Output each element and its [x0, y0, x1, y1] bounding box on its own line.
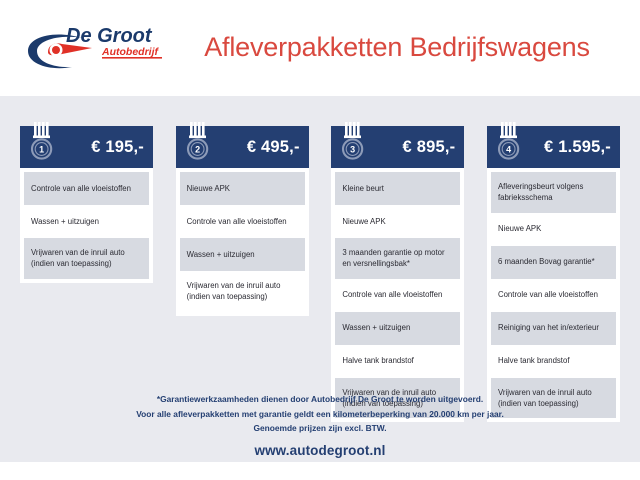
package-feature-list: Kleine beurtNieuwe APK3 maanden garantie…	[331, 168, 464, 422]
disclaimer-line-2: Voor alle afleverpakketten met garantie …	[0, 407, 640, 422]
package-card-header: 4€ 1.595,-	[487, 126, 620, 168]
package-feature-label: Wassen + uitzuigen	[31, 216, 99, 227]
svg-text:4: 4	[506, 145, 511, 155]
package-feature-label: Vrijwaren van de inruil auto (indien van…	[31, 247, 142, 270]
svg-text:Autobedrijf: Autobedrijf	[101, 46, 159, 58]
package-feature-row: Controle van alle vloeistoffen	[180, 205, 305, 238]
package-feature-row: 3 maanden garantie op motor en versnelli…	[335, 238, 460, 279]
package-feature-label: Controle van alle vloeistoffen	[31, 183, 131, 194]
package-feature-label: Halve tank brandstof	[342, 355, 414, 366]
package-price: € 1.595,-	[544, 138, 611, 157]
package-feature-label: Nieuwe APK	[187, 183, 230, 194]
package-feature-label: Nieuwe APK	[342, 216, 385, 227]
package-feature-list: Afleveringsbeurt volgens fabrieksschemaN…	[487, 168, 620, 422]
svg-text:2: 2	[195, 145, 200, 155]
package-feature-row: Controle van alle vloeistoffen	[491, 279, 616, 312]
bottom-strip	[0, 462, 640, 480]
package-feature-row: Nieuwe APK	[491, 213, 616, 246]
package-feature-label: 6 maanden Bovag garantie*	[498, 256, 595, 267]
package-feature-label: Wassen + uitzuigen	[342, 322, 410, 333]
package-price: € 495,-	[247, 138, 300, 157]
disclaimer-line-1: *Garantiewerkzaamheden dienen door Autob…	[0, 392, 640, 407]
medal-icon: 3	[338, 122, 368, 166]
package-price: € 195,-	[91, 138, 144, 157]
package-card: 4€ 1.595,-Afleveringsbeurt volgens fabri…	[487, 126, 620, 422]
package-card-header: 3€ 895,-	[331, 126, 464, 168]
package-feature-row: Halve tank brandstof	[335, 345, 460, 378]
package-feature-row: Wassen + uitzuigen	[24, 205, 149, 238]
package-feature-label: Controle van alle vloeistoffen	[342, 289, 442, 300]
package-price: € 895,-	[403, 138, 456, 157]
medal-icon: 2	[183, 122, 213, 166]
package-feature-label: Vrijwaren van de inruil auto (indien van…	[187, 280, 298, 303]
de-groot-autobedrijf-logo: De Groot Autobedrijf	[18, 18, 168, 76]
header: De Groot Autobedrijf Afleverpakketten Be…	[0, 0, 640, 94]
package-feature-list: Nieuwe APKControle van alle vloeistoffen…	[176, 168, 309, 316]
package-feature-row: Controle van alle vloeistoffen	[24, 172, 149, 205]
package-feature-label: 3 maanden garantie op motor en versnelli…	[342, 247, 453, 270]
package-card-header: 2€ 495,-	[176, 126, 309, 168]
package-feature-row: Vrijwaren van de inruil auto (indien van…	[24, 238, 149, 279]
package-feature-label: Wassen + uitzuigen	[187, 249, 255, 260]
package-feature-row: Nieuwe APK	[335, 205, 460, 238]
package-feature-label: Halve tank brandstof	[498, 355, 570, 366]
disclaimer-line-3: Genoemde prijzen zijn excl. BTW.	[0, 421, 640, 436]
svg-text:1: 1	[39, 145, 44, 155]
package-feature-row: Wassen + uitzuigen	[335, 312, 460, 345]
package-feature-row: Reiniging van het in/exterieur	[491, 312, 616, 345]
package-feature-row: Kleine beurt	[335, 172, 460, 205]
package-feature-label: Afleveringsbeurt volgens fabrieksschema	[498, 181, 609, 204]
page-title: Afleverpakketten Bedrijfswagens	[168, 32, 640, 63]
disclaimer-text: *Garantiewerkzaamheden dienen door Autob…	[0, 392, 640, 436]
package-card: 2€ 495,-Nieuwe APKControle van alle vloe…	[176, 126, 309, 316]
package-feature-label: Reiniging van het in/exterieur	[498, 322, 599, 333]
medal-icon: 4	[494, 122, 524, 166]
package-feature-row: Nieuwe APK	[180, 172, 305, 205]
medal-icon: 1	[27, 122, 57, 166]
package-feature-list: Controle van alle vloeistoffenWassen + u…	[20, 168, 153, 283]
package-feature-label: Kleine beurt	[342, 183, 384, 194]
package-feature-row: Wassen + uitzuigen	[180, 238, 305, 271]
package-feature-row: Vrijwaren van de inruil auto (indien van…	[180, 271, 305, 312]
package-feature-label: Nieuwe APK	[498, 223, 541, 234]
svg-text:De Groot: De Groot	[66, 25, 153, 47]
svg-text:3: 3	[350, 145, 355, 155]
package-feature-row: Halve tank brandstof	[491, 345, 616, 378]
package-card: 1€ 195,-Controle van alle vloeistoffenWa…	[20, 126, 153, 283]
package-feature-label: Controle van alle vloeistoffen	[498, 289, 598, 300]
poster-page: De Groot Autobedrijf Afleverpakketten Be…	[0, 0, 640, 480]
package-card-header: 1€ 195,-	[20, 126, 153, 168]
package-card-list: 1€ 195,-Controle van alle vloeistoffenWa…	[0, 126, 640, 422]
package-feature-row: Afleveringsbeurt volgens fabrieksschema	[491, 172, 616, 213]
package-feature-label: Controle van alle vloeistoffen	[187, 216, 287, 227]
package-card: 3€ 895,-Kleine beurtNieuwe APK3 maanden …	[331, 126, 464, 422]
package-feature-row: Controle van alle vloeistoffen	[335, 279, 460, 312]
package-feature-row: 6 maanden Bovag garantie*	[491, 246, 616, 279]
content-panel: 1€ 195,-Controle van alle vloeistoffenWa…	[0, 96, 640, 462]
website-link[interactable]: www.autodegroot.nl	[0, 443, 640, 458]
